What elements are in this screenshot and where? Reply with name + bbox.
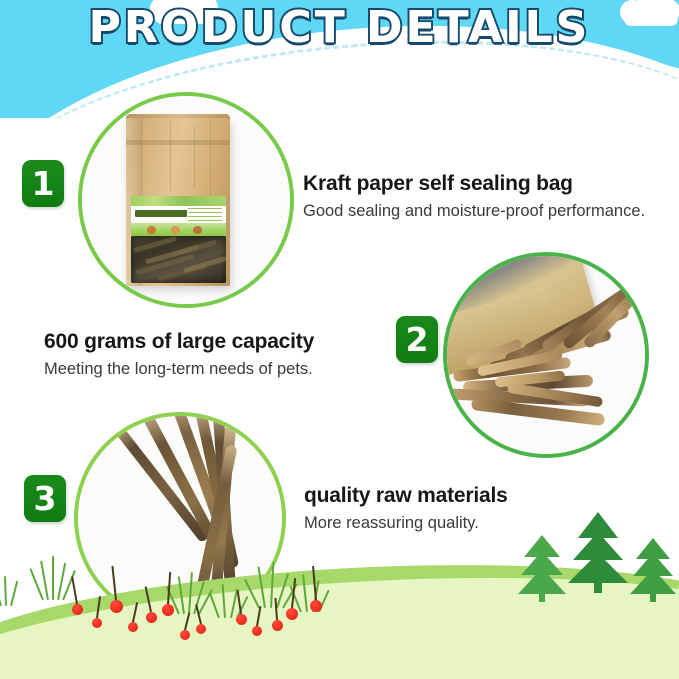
label-leaf-border [131, 196, 226, 206]
stick-pile [447, 256, 645, 454]
feature-title-2: 600 grams of large capacity [44, 330, 314, 354]
feature-image-1[interactable] [78, 92, 294, 308]
feature-text-1: Kraft paper self sealing bag Good sealin… [303, 172, 645, 221]
stick [582, 261, 649, 349]
label-animal-icon-2 [171, 226, 180, 234]
bag-crease-a [170, 122, 171, 192]
sticks-pile-photo [447, 256, 645, 454]
feature-title-3: quality raw materials [304, 484, 508, 508]
feature-text-2: 600 grams of large capacity Meeting the … [44, 330, 314, 379]
product-label [131, 196, 226, 236]
label-animal-icon-3 [193, 226, 202, 234]
bag-transparent-window [131, 236, 226, 283]
feature-image-2[interactable] [443, 252, 649, 458]
feature-subtitle-3: More reassuring quality. [304, 514, 508, 533]
feature-subtitle-2: Meeting the long-term needs of pets. [44, 360, 314, 379]
feature-title-1: Kraft paper self sealing bag [303, 172, 645, 196]
step-number-badge-1: 1 [22, 160, 64, 207]
feature-subtitle-1: Good sealing and moisture-proof performa… [303, 202, 645, 221]
label-brand-text [135, 210, 187, 217]
page-title: PRODUCT DETAILS [0, 2, 679, 53]
kraft-bag-photo [82, 96, 290, 304]
step-number-badge-2: 2 [396, 316, 438, 363]
label-description-lines [188, 208, 222, 224]
feature-text-3: quality raw materials More reassuring qu… [304, 484, 508, 533]
product-details-infographic: PRODUCT DETAILS PRODUCT DETAILS [0, 0, 679, 679]
bag-crease-b [194, 126, 195, 188]
step-number-badge-3: 3 [24, 475, 66, 522]
bag-seal-line [126, 140, 230, 145]
label-animal-icon-1 [147, 226, 156, 234]
